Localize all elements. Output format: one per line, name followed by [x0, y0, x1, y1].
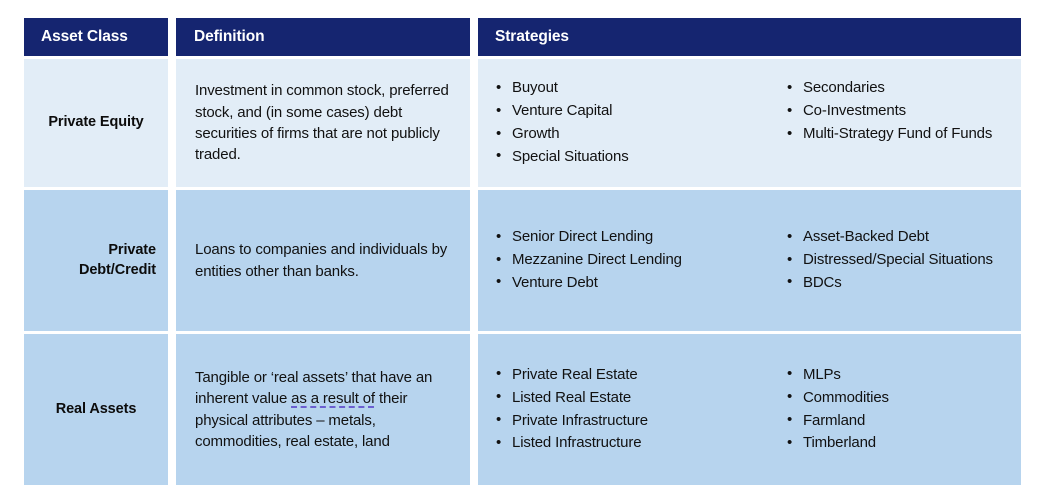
table-header-row: Asset Class Definition Strategies — [24, 18, 1021, 56]
strategy-item: Commodities — [786, 387, 1011, 409]
column-header-definition-label: Definition — [194, 28, 264, 46]
strategies-list: Senior Direct LendingMezzanine Direct Le… — [495, 226, 782, 294]
strategies-sub-column-2: SecondariesCo-InvestmentsMulti-Strategy … — [782, 77, 1011, 169]
cell-asset-class: Real Assets — [24, 334, 168, 485]
strategy-item: Multi-Strategy Fund of Funds — [786, 123, 1011, 145]
definition-text: Loans to companies and individuals by en… — [195, 239, 456, 282]
strategy-item: Farmland — [786, 410, 1011, 432]
strategy-item: Mezzanine Direct Lending — [495, 249, 782, 271]
table-row: Private Equity Investment in common stoc… — [24, 59, 1021, 187]
strategies-sub-column-1: Private Real EstateListed Real EstatePri… — [495, 364, 782, 456]
cell-definition: Tangible or ‘real assets’ that have an i… — [176, 334, 470, 485]
definition-text: Investment in common stock, preferred st… — [195, 80, 456, 165]
strategy-item: Special Situations — [495, 146, 782, 168]
cell-strategies: BuyoutVenture CapitalGrowthSpecial Situa… — [478, 59, 1021, 187]
strategies-list: Asset-Backed DebtDistressed/Special Situ… — [786, 226, 1011, 294]
asset-class-table: Asset Class Definition Strategies Privat… — [24, 18, 1021, 485]
strategy-item: Buyout — [495, 77, 782, 99]
grammar-suggestion-underline[interactable]: as a result of — [291, 390, 375, 407]
column-header-asset-class-label: Asset Class — [41, 28, 128, 46]
column-header-strategies: Strategies — [478, 18, 1021, 56]
strategies-list: BuyoutVenture CapitalGrowthSpecial Situa… — [495, 77, 782, 168]
strategy-item: MLPs — [786, 364, 1011, 386]
strategy-item: Distressed/Special Situations — [786, 249, 1011, 271]
cell-asset-class: Private Equity — [24, 59, 168, 187]
cell-strategies: Senior Direct LendingMezzanine Direct Le… — [478, 190, 1021, 331]
strategy-item: Listed Infrastructure — [495, 432, 782, 454]
strategies-sub-column-1: Senior Direct LendingMezzanine Direct Le… — [495, 226, 782, 295]
strategies-sub-column-1: BuyoutVenture CapitalGrowthSpecial Situa… — [495, 77, 782, 169]
strategy-item: Venture Capital — [495, 100, 782, 122]
asset-class-label: Private Debt/Credit — [38, 241, 156, 279]
strategy-item: BDCs — [786, 272, 1011, 294]
strategy-item: Private Infrastructure — [495, 410, 782, 432]
strategy-item: Private Real Estate — [495, 364, 782, 386]
definition-text: Tangible or ‘real assets’ that have an i… — [195, 367, 456, 452]
strategy-item: Co-Investments — [786, 100, 1011, 122]
column-header-strategies-label: Strategies — [495, 28, 569, 46]
asset-class-label: Private Equity — [48, 113, 143, 132]
table-row: Private Debt/Credit Loans to companies a… — [24, 190, 1021, 331]
strategy-item: Secondaries — [786, 77, 1011, 99]
strategies-sub-column-2: Asset-Backed DebtDistressed/Special Situ… — [782, 226, 1011, 295]
strategy-item: Listed Real Estate — [495, 387, 782, 409]
strategy-item: Senior Direct Lending — [495, 226, 782, 248]
strategy-item: Venture Debt — [495, 272, 782, 294]
cell-definition: Loans to companies and individuals by en… — [176, 190, 470, 331]
column-header-asset-class: Asset Class — [24, 18, 168, 56]
cell-definition: Investment in common stock, preferred st… — [176, 59, 470, 187]
column-header-definition: Definition — [176, 18, 470, 56]
strategies-list: SecondariesCo-InvestmentsMulti-Strategy … — [786, 77, 1011, 145]
table-row: Real Assets Tangible or ‘real assets’ th… — [24, 334, 1021, 485]
strategy-item: Timberland — [786, 432, 1011, 454]
strategies-sub-column-2: MLPsCommoditiesFarmlandTimberland — [782, 364, 1011, 456]
asset-class-label: Real Assets — [56, 400, 137, 419]
cell-asset-class: Private Debt/Credit — [24, 190, 168, 331]
cell-strategies: Private Real EstateListed Real EstatePri… — [478, 334, 1021, 485]
strategies-list: MLPsCommoditiesFarmlandTimberland — [786, 364, 1011, 455]
strategies-list: Private Real EstateListed Real EstatePri… — [495, 364, 782, 455]
strategy-item: Asset-Backed Debt — [786, 226, 1011, 248]
strategy-item: Growth — [495, 123, 782, 145]
